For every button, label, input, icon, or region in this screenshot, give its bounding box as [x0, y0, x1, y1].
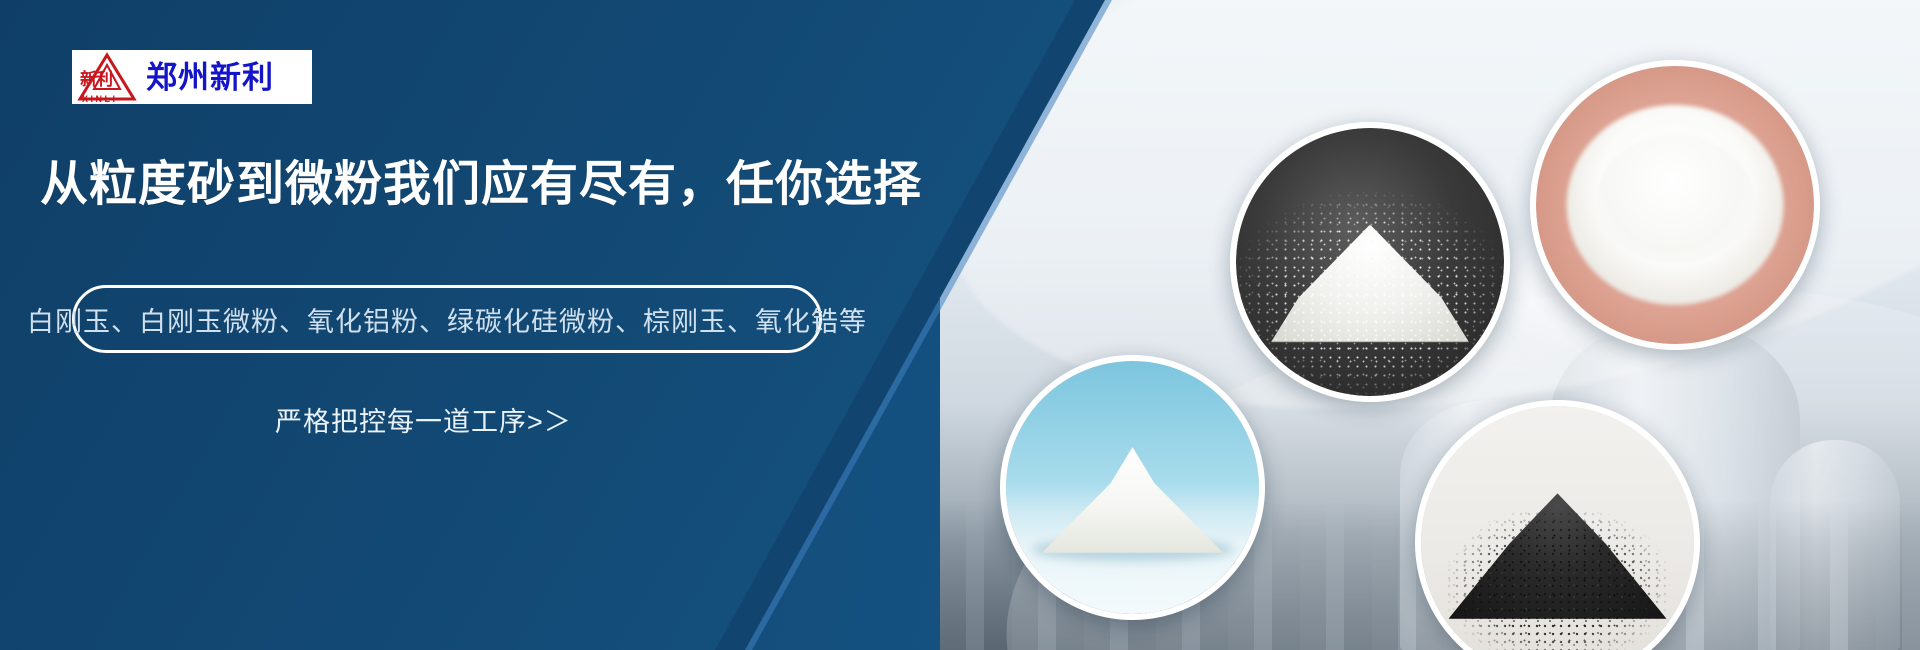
logo-mark-cn: 新利 — [80, 71, 112, 88]
product-photo-inner — [1536, 66, 1814, 344]
material-powder-core — [1597, 136, 1753, 264]
headline: 从粒度砂到微粉我们应有尽有，任你选择 — [40, 144, 922, 214]
process-cta-link[interactable]: 严格把控每一道工序>＞ — [275, 400, 572, 439]
product-photo-black-grit — [1415, 400, 1700, 650]
material-grains — [1236, 128, 1504, 396]
product-photo-white-powder-dish — [1530, 60, 1820, 350]
product-list-text: 白刚玉、白刚玉微粉、氧化铝粉、绿碳化硅微粉、棕刚玉、氧化锆等 — [27, 300, 867, 339]
product-photo-inner — [1421, 406, 1694, 650]
product-photo-powder-cone — [1000, 355, 1265, 620]
logo-mark-en: XINLI — [82, 95, 118, 104]
product-photo-inner — [1236, 128, 1504, 396]
product-photo-inner — [1006, 361, 1259, 614]
product-list-pill[interactable]: 白刚玉、白刚玉微粉、氧化铝粉、绿碳化硅微粉、棕刚玉、氧化锆等 — [72, 285, 822, 353]
company-logo[interactable]: 新利 XINLI 郑州新利 — [72, 50, 312, 104]
triangle-logo-icon: 新利 XINLI — [76, 51, 138, 103]
product-photo-white-grit — [1230, 122, 1510, 402]
logo-wordmark: 郑州新利 — [146, 62, 274, 93]
material-grains — [1421, 406, 1694, 650]
promo-banner: 新利 XINLI 郑州新利 从粒度砂到微粉我们应有尽有，任你选择 白刚玉、白刚玉… — [0, 0, 1920, 650]
